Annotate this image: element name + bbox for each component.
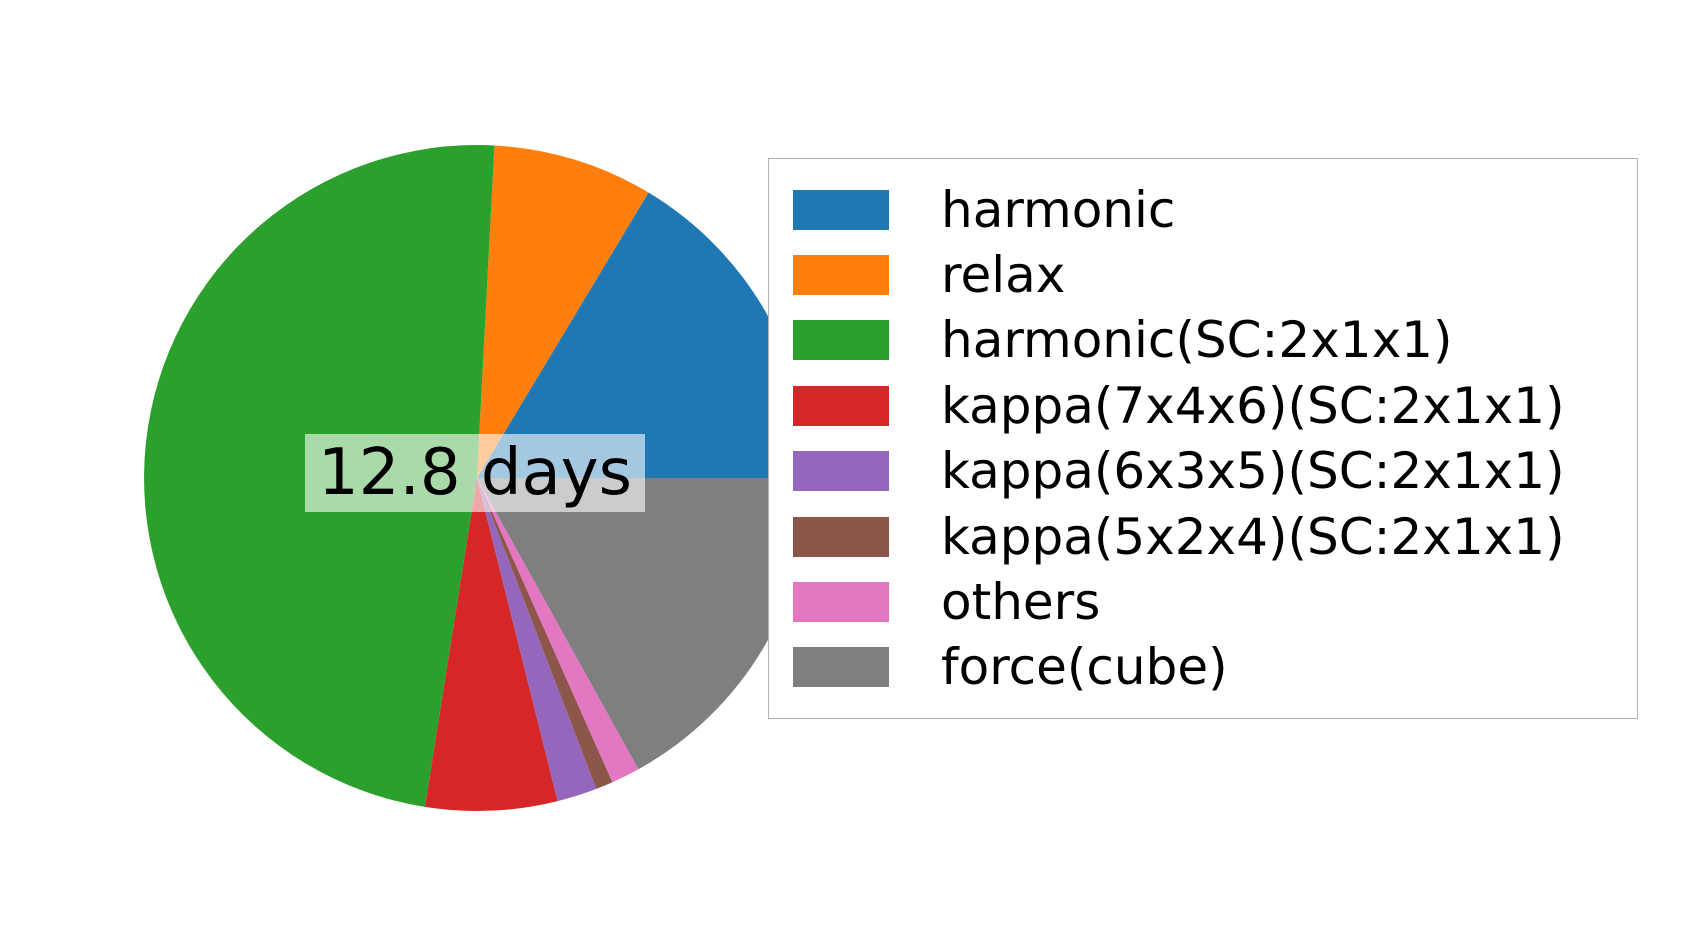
figure-canvas: 12.8 days harmonicrelaxharmonic(SC:2x1x1… [0, 0, 1696, 951]
legend-item[interactable]: relax [793, 242, 1637, 307]
center-total-label-text: 12.8 days [318, 441, 632, 505]
legend-item[interactable]: kappa(7x4x6)(SC:2x1x1) [793, 373, 1637, 438]
legend-box: harmonicrelaxharmonic(SC:2x1x1)kappa(7x4… [768, 158, 1638, 719]
pie-chart-area: 12.8 days [0, 0, 830, 951]
legend-item-label: force(cube) [941, 642, 1228, 692]
legend-items-list: harmonicrelaxharmonic(SC:2x1x1)kappa(7x4… [769, 177, 1637, 700]
legend-item[interactable]: kappa(6x3x5)(SC:2x1x1) [793, 439, 1637, 504]
legend-color-swatch [793, 255, 889, 295]
legend-item-label: relax [941, 250, 1065, 300]
legend-item[interactable]: kappa(5x2x4)(SC:2x1x1) [793, 504, 1637, 569]
legend-item[interactable]: harmonic(SC:2x1x1) [793, 308, 1637, 373]
legend-color-swatch [793, 582, 889, 622]
legend-color-swatch [793, 517, 889, 557]
legend-color-swatch [793, 451, 889, 491]
legend-color-swatch [793, 386, 889, 426]
legend-color-swatch [793, 190, 889, 230]
legend-item[interactable]: others [793, 569, 1637, 634]
legend-item-label: kappa(7x4x6)(SC:2x1x1) [941, 381, 1565, 431]
legend-item[interactable]: harmonic [793, 177, 1637, 242]
legend-item-label: kappa(5x2x4)(SC:2x1x1) [941, 512, 1565, 562]
legend-item[interactable]: force(cube) [793, 635, 1637, 700]
legend-item-label: others [941, 577, 1100, 627]
center-total-label: 12.8 days [305, 434, 645, 512]
legend-color-swatch [793, 647, 889, 687]
legend-item-label: kappa(6x3x5)(SC:2x1x1) [941, 446, 1565, 496]
legend-item-label: harmonic(SC:2x1x1) [941, 315, 1453, 365]
legend-color-swatch [793, 320, 889, 360]
legend-item-label: harmonic [941, 185, 1175, 235]
